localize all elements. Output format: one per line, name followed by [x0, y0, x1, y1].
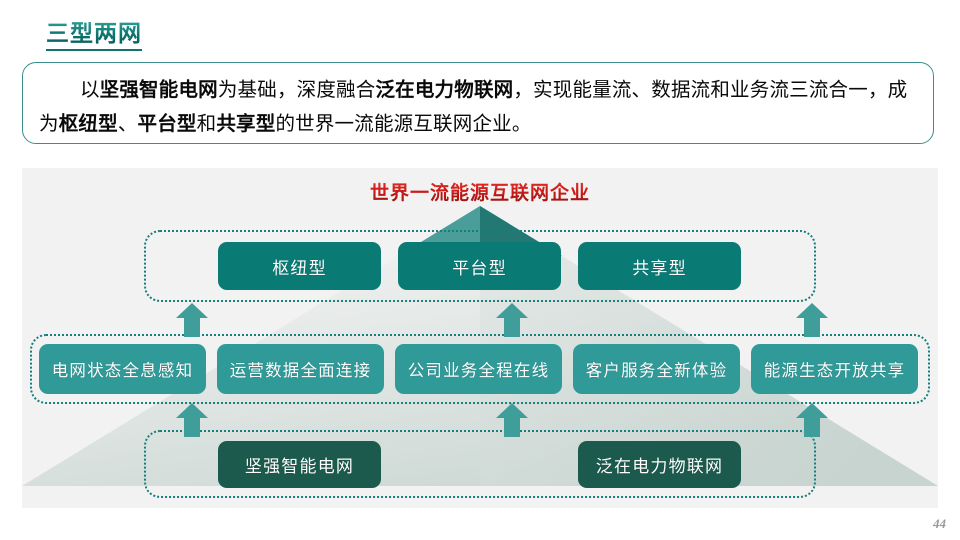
node-operation-data-full-connection[interactable]: 运营数据全面连接: [217, 344, 384, 394]
node-platform-type[interactable]: 平台型: [398, 242, 561, 290]
arrow-up-icon: [496, 403, 528, 437]
pyramid-apex-title: 世界一流能源互联网企业: [22, 178, 938, 205]
statement-emphasis: 平台型: [138, 112, 197, 135]
node-strong-smart-grid[interactable]: 坚强智能电网: [218, 441, 381, 488]
node-grid-state-holographic-sensing[interactable]: 电网状态全息感知: [39, 344, 206, 394]
node-customer-service-new-experience[interactable]: 客户服务全新体验: [573, 344, 740, 394]
pyramid-diagram: 世界一流能源互联网企业 枢纽型 平台型 共享型 电网状态全息感知 运营数据全面连…: [22, 168, 938, 508]
node-hub-type[interactable]: 枢纽型: [218, 242, 381, 290]
statement-emphasis: 泛在电力物联网: [375, 78, 513, 101]
page-title: 三型两网: [46, 22, 142, 51]
statement-plain: 和: [197, 112, 217, 135]
statement-emphasis: 坚强智能电网: [100, 78, 218, 101]
statement-text: 以坚强智能电网为基础，深度融合泛在电力物联网，实现能量流、数据流和业务流三流合一…: [39, 73, 917, 140]
statement-plain: 的世界一流能源互联网企业。: [275, 112, 531, 135]
arrow-up-icon: [796, 403, 828, 437]
page-number: 44: [933, 516, 946, 532]
statement-plain: 以: [80, 78, 100, 101]
statement-plain: 、: [118, 112, 138, 135]
node-sharing-type[interactable]: 共享型: [578, 242, 741, 290]
arrow-up-icon: [176, 303, 208, 337]
statement-box: 以坚强智能电网为基础，深度融合泛在电力物联网，实现能量流、数据流和业务流三流合一…: [22, 62, 934, 144]
arrow-up-icon: [796, 303, 828, 337]
arrow-up-icon: [496, 303, 528, 337]
statement-plain: 为基础，深度融合: [218, 78, 376, 101]
node-ubiquitous-power-iot[interactable]: 泛在电力物联网: [578, 441, 741, 488]
statement-emphasis: 共享型: [216, 112, 275, 135]
node-company-business-fully-online[interactable]: 公司业务全程在线: [395, 344, 562, 394]
statement-emphasis: 枢纽型: [59, 112, 118, 135]
node-energy-ecosystem-open-sharing[interactable]: 能源生态开放共享: [751, 344, 918, 394]
arrow-up-icon: [176, 403, 208, 437]
